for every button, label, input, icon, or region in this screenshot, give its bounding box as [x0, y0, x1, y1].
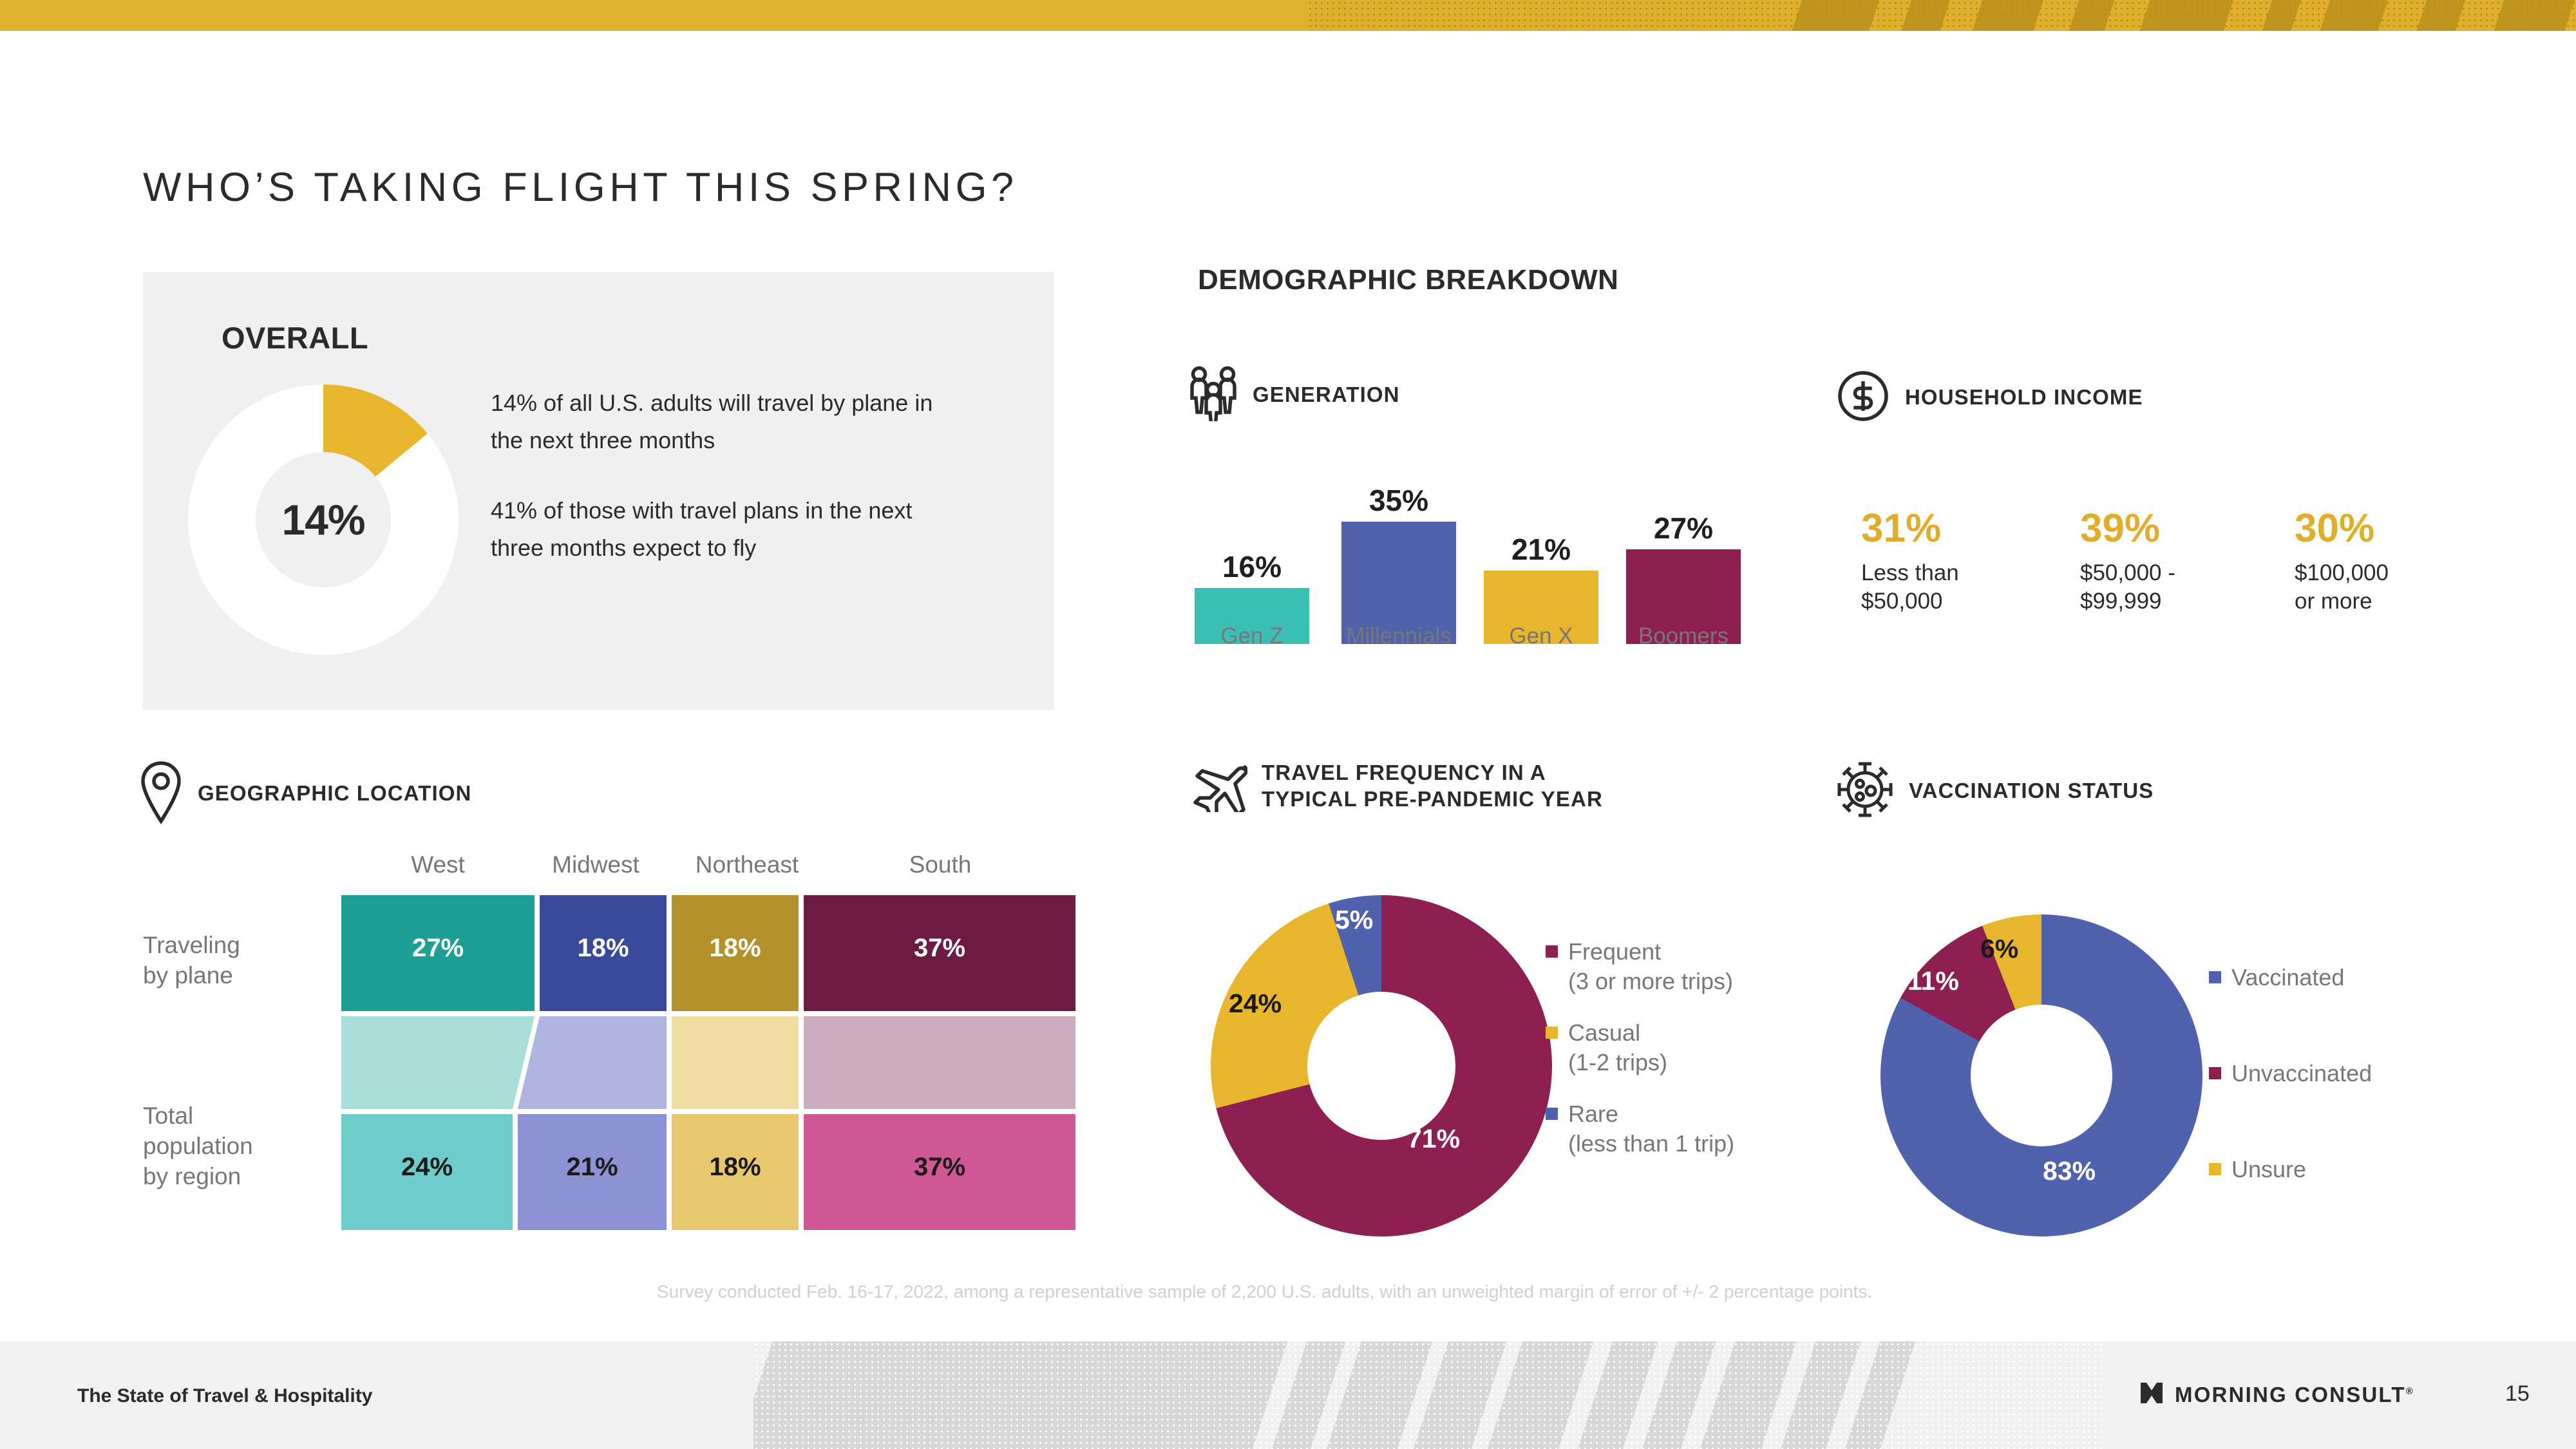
slide-footer: The State of Travel & Hospitality MORNIN… — [0, 1341, 2576, 1449]
overall-donut-center: 14% — [256, 452, 391, 587]
geo-value-top-south: 37% — [804, 934, 1075, 963]
overall-copy-line-1: 14% of all U.S. adults will travel by pl… — [491, 384, 954, 459]
morning-consult-wordmark: MORNING CONSULT® — [2175, 1383, 2414, 1407]
vaccination-value-vaccinated: 83% — [2043, 1156, 2096, 1186]
page-title: WHO’S TAKING FLIGHT THIS SPRING? — [143, 164, 1018, 211]
legend-swatch-unvaccinated — [2209, 1067, 2221, 1079]
geo-value-bottom-northeast: 18% — [672, 1153, 799, 1182]
income-pct-under-50k: 31% — [1861, 509, 2054, 549]
geographic-location-section-header: GEOGRAPHIC LOCATION — [138, 760, 471, 828]
airplane-icon — [1188, 757, 1247, 815]
top-band-pattern — [1307, 0, 2576, 31]
geo-row-label-traveling-by-plane: Traveling by plane — [143, 931, 240, 991]
income-pct-100k-plus: 30% — [2295, 509, 2501, 549]
travel-frequency-legend: Frequent (3 or more trips) Casual (1-2 t… — [1546, 937, 1816, 1180]
axis-label-millennials: Millennials — [1323, 623, 1474, 649]
legend-label-unsure: Unsure — [2231, 1155, 2306, 1184]
legend-label-vaccinated: Vaccinated — [2231, 963, 2344, 992]
axis-label-gen-z: Gen Z — [1195, 623, 1309, 649]
legend-label-line2: (3 or more trips) — [1568, 967, 1733, 996]
household-income-heading: HOUSEHOLD INCOME — [1905, 384, 2143, 410]
vaccination-value-unsure: 6% — [1980, 934, 2018, 964]
top-gold-band — [0, 0, 2576, 31]
legend-label-line1: Frequent — [1568, 937, 1733, 967]
geo-value-bottom-west: 24% — [341, 1153, 513, 1182]
travel-frequency-donut-hole — [1307, 992, 1455, 1140]
geographic-location-heading: GEOGRAPHIC LOCATION — [198, 781, 471, 806]
household-income-section-header: HOUSEHOLD INCOME — [1835, 368, 2143, 427]
legend-label-unvaccinated: Unvaccinated — [2231, 1059, 2372, 1088]
income-label-line1: $100,000 — [2295, 559, 2501, 587]
footer-pattern — [753, 1341, 2106, 1449]
page-number: 15 — [2505, 1381, 2530, 1406]
geo-row-label-line1: Total — [143, 1101, 253, 1132]
legend-label-frequent: Frequent (3 or more trips) — [1568, 937, 1733, 996]
vaccination-legend: Vaccinated Unvaccinated Unsure — [2209, 963, 2512, 1206]
footer-report-title: The State of Travel & Hospitality — [77, 1385, 372, 1407]
travel-frequency-value-casual: 24% — [1229, 989, 1282, 1019]
overall-donut-chart: 14% — [188, 384, 459, 655]
geo-value-bottom-midwest: 21% — [518, 1153, 667, 1182]
geo-row-label-line2: population — [143, 1132, 253, 1162]
income-col-under-50k: 31% Less than $50,000 — [1861, 509, 2054, 616]
legend-label-line2: (1-2 trips) — [1568, 1048, 1667, 1077]
travel-frequency-donut — [1211, 895, 1552, 1236]
legend-item-casual: Casual (1-2 trips) — [1546, 1018, 1816, 1077]
travel-frequency-heading-line1: TRAVEL FREQUENCY IN A — [1262, 760, 1603, 786]
travel-frequency-value-frequent: 71% — [1407, 1124, 1460, 1154]
generation-bar-chart: 16% 35% 21% 27% — [1195, 477, 1774, 644]
overall-panel: OVERALL 14% 14% of all U.S. adults will … — [143, 272, 1054, 710]
vaccination-donut — [1880, 914, 2202, 1236]
income-label-100k-plus: $100,000 or more — [2295, 559, 2501, 616]
vaccination-heading: VACCINATION STATUS — [1909, 778, 2154, 804]
legend-swatch-rare — [1546, 1108, 1558, 1120]
legend-item-rare: Rare (less than 1 trip) — [1546, 1099, 1816, 1159]
geo-row-label-line1: Traveling — [143, 931, 240, 961]
bar-value-boomers: 27% — [1654, 511, 1713, 545]
legend-swatch-casual — [1546, 1027, 1558, 1039]
income-label-line2: $99,999 — [2080, 587, 2273, 616]
vaccination-value-unvaccinated: 11% — [1908, 966, 1959, 996]
income-col-100k-plus: 30% $100,000 or more — [2295, 509, 2501, 616]
generation-heading: GENERATION — [1253, 382, 1400, 408]
geo-value-top-midwest: 18% — [540, 934, 667, 963]
overall-donut-ring: 14% — [188, 384, 459, 655]
overall-copy-line-2: 41% of those with travel plans in the ne… — [491, 492, 954, 566]
overall-copy: 14% of all U.S. adults will travel by pl… — [491, 384, 954, 566]
survey-footnote: Survey conducted Feb. 16-17, 2022, among… — [657, 1282, 2537, 1302]
geo-row-label-line3: by region — [143, 1162, 253, 1192]
demographic-breakdown-heading: DEMOGRAPHIC BREAKDOWN — [1198, 264, 1618, 296]
legend-item-unvaccinated: Unvaccinated — [2209, 1059, 2512, 1088]
travel-frequency-section-header: TRAVEL FREQUENCY IN A TYPICAL PRE-PANDEM… — [1188, 757, 1603, 815]
geo-value-bottom-south: 37% — [804, 1153, 1075, 1182]
geo-value-top-west: 27% — [341, 934, 535, 963]
geo-row-label-line2: by plane — [143, 961, 240, 991]
geo-value-top-northeast: 18% — [672, 934, 799, 963]
income-label-line2: or more — [2295, 587, 2501, 616]
axis-label-gen-x: Gen X — [1484, 623, 1598, 649]
legend-label-rare: Rare (less than 1 trip) — [1568, 1099, 1734, 1159]
location-pin-icon — [138, 760, 184, 828]
morning-consult-mark-icon — [2139, 1381, 2164, 1408]
income-col-50k-99k: 39% $50,000 - $99,999 — [2080, 509, 2273, 616]
axis-label-boomers: Boomers — [1616, 623, 1750, 649]
overall-heading: OVERALL — [222, 320, 368, 355]
income-label-50k-99k: $50,000 - $99,999 — [2080, 559, 2273, 616]
footer-dot-texture — [753, 1341, 2106, 1449]
bar-value-millennials: 35% — [1369, 483, 1428, 518]
legend-swatch-frequent — [1546, 945, 1558, 958]
geographic-slope-chart: 27% 18% 18% 37% 24% 21% 18% 37% — [341, 895, 1075, 1230]
travel-frequency-heading: TRAVEL FREQUENCY IN A TYPICAL PRE-PANDEM… — [1262, 760, 1603, 812]
legend-label-casual: Casual (1-2 trips) — [1568, 1018, 1667, 1077]
income-label-line1: $50,000 - — [2080, 559, 2273, 587]
legend-label-line2: (less than 1 trip) — [1568, 1129, 1734, 1159]
geo-col-header-northeast: Northeast — [654, 851, 840, 878]
generation-axis-labels: Gen Z Millennials Gen X Boomers — [1195, 623, 1774, 656]
income-label-line1: Less than — [1861, 559, 2054, 587]
legend-item-unsure: Unsure — [2209, 1155, 2512, 1184]
geo-connector-band — [341, 1016, 1075, 1109]
bar-value-gen-z: 16% — [1222, 549, 1282, 584]
people-group-icon — [1188, 366, 1238, 424]
income-pct-50k-99k: 39% — [2080, 509, 2273, 549]
dollar-circle-icon — [1835, 368, 1891, 427]
vaccination-donut-hole — [1971, 1005, 2112, 1146]
legend-label-line1: Rare — [1568, 1099, 1734, 1129]
income-label-line2: $50,000 — [1861, 587, 2054, 616]
travel-frequency-heading-line2: TYPICAL PRE-PANDEMIC YEAR — [1262, 786, 1603, 812]
legend-item-vaccinated: Vaccinated — [2209, 963, 2512, 992]
top-band-stripe — [2489, 0, 2576, 31]
legend-swatch-unsure — [2209, 1163, 2221, 1175]
legend-swatch-vaccinated — [2209, 971, 2221, 983]
geo-col-header-south: South — [844, 851, 1037, 878]
legend-item-frequent: Frequent (3 or more trips) — [1546, 937, 1816, 996]
bar-value-gen-x: 21% — [1511, 532, 1571, 567]
geo-row-label-total-population: Total population by region — [143, 1101, 253, 1192]
top-band-stripe — [2135, 0, 2237, 31]
income-label-under-50k: Less than $50,000 — [1861, 559, 2054, 616]
generation-section-header: GENERATION — [1188, 366, 1400, 424]
travel-frequency-value-rare: 5% — [1335, 905, 1373, 935]
legend-label-line1: Casual — [1568, 1018, 1667, 1048]
virus-icon — [1835, 760, 1895, 822]
vaccination-section-header: VACCINATION STATUS — [1835, 760, 2154, 822]
bar-col-millennials: 35% — [1341, 483, 1456, 644]
overall-donut-value: 14% — [281, 495, 365, 544]
brand-text: MORNING CONSULT — [2175, 1383, 2406, 1406]
morning-consult-logo: MORNING CONSULT® — [2139, 1381, 2414, 1408]
top-band-stripe — [1787, 0, 1883, 31]
brand-registered-mark: ® — [2406, 1386, 2414, 1397]
